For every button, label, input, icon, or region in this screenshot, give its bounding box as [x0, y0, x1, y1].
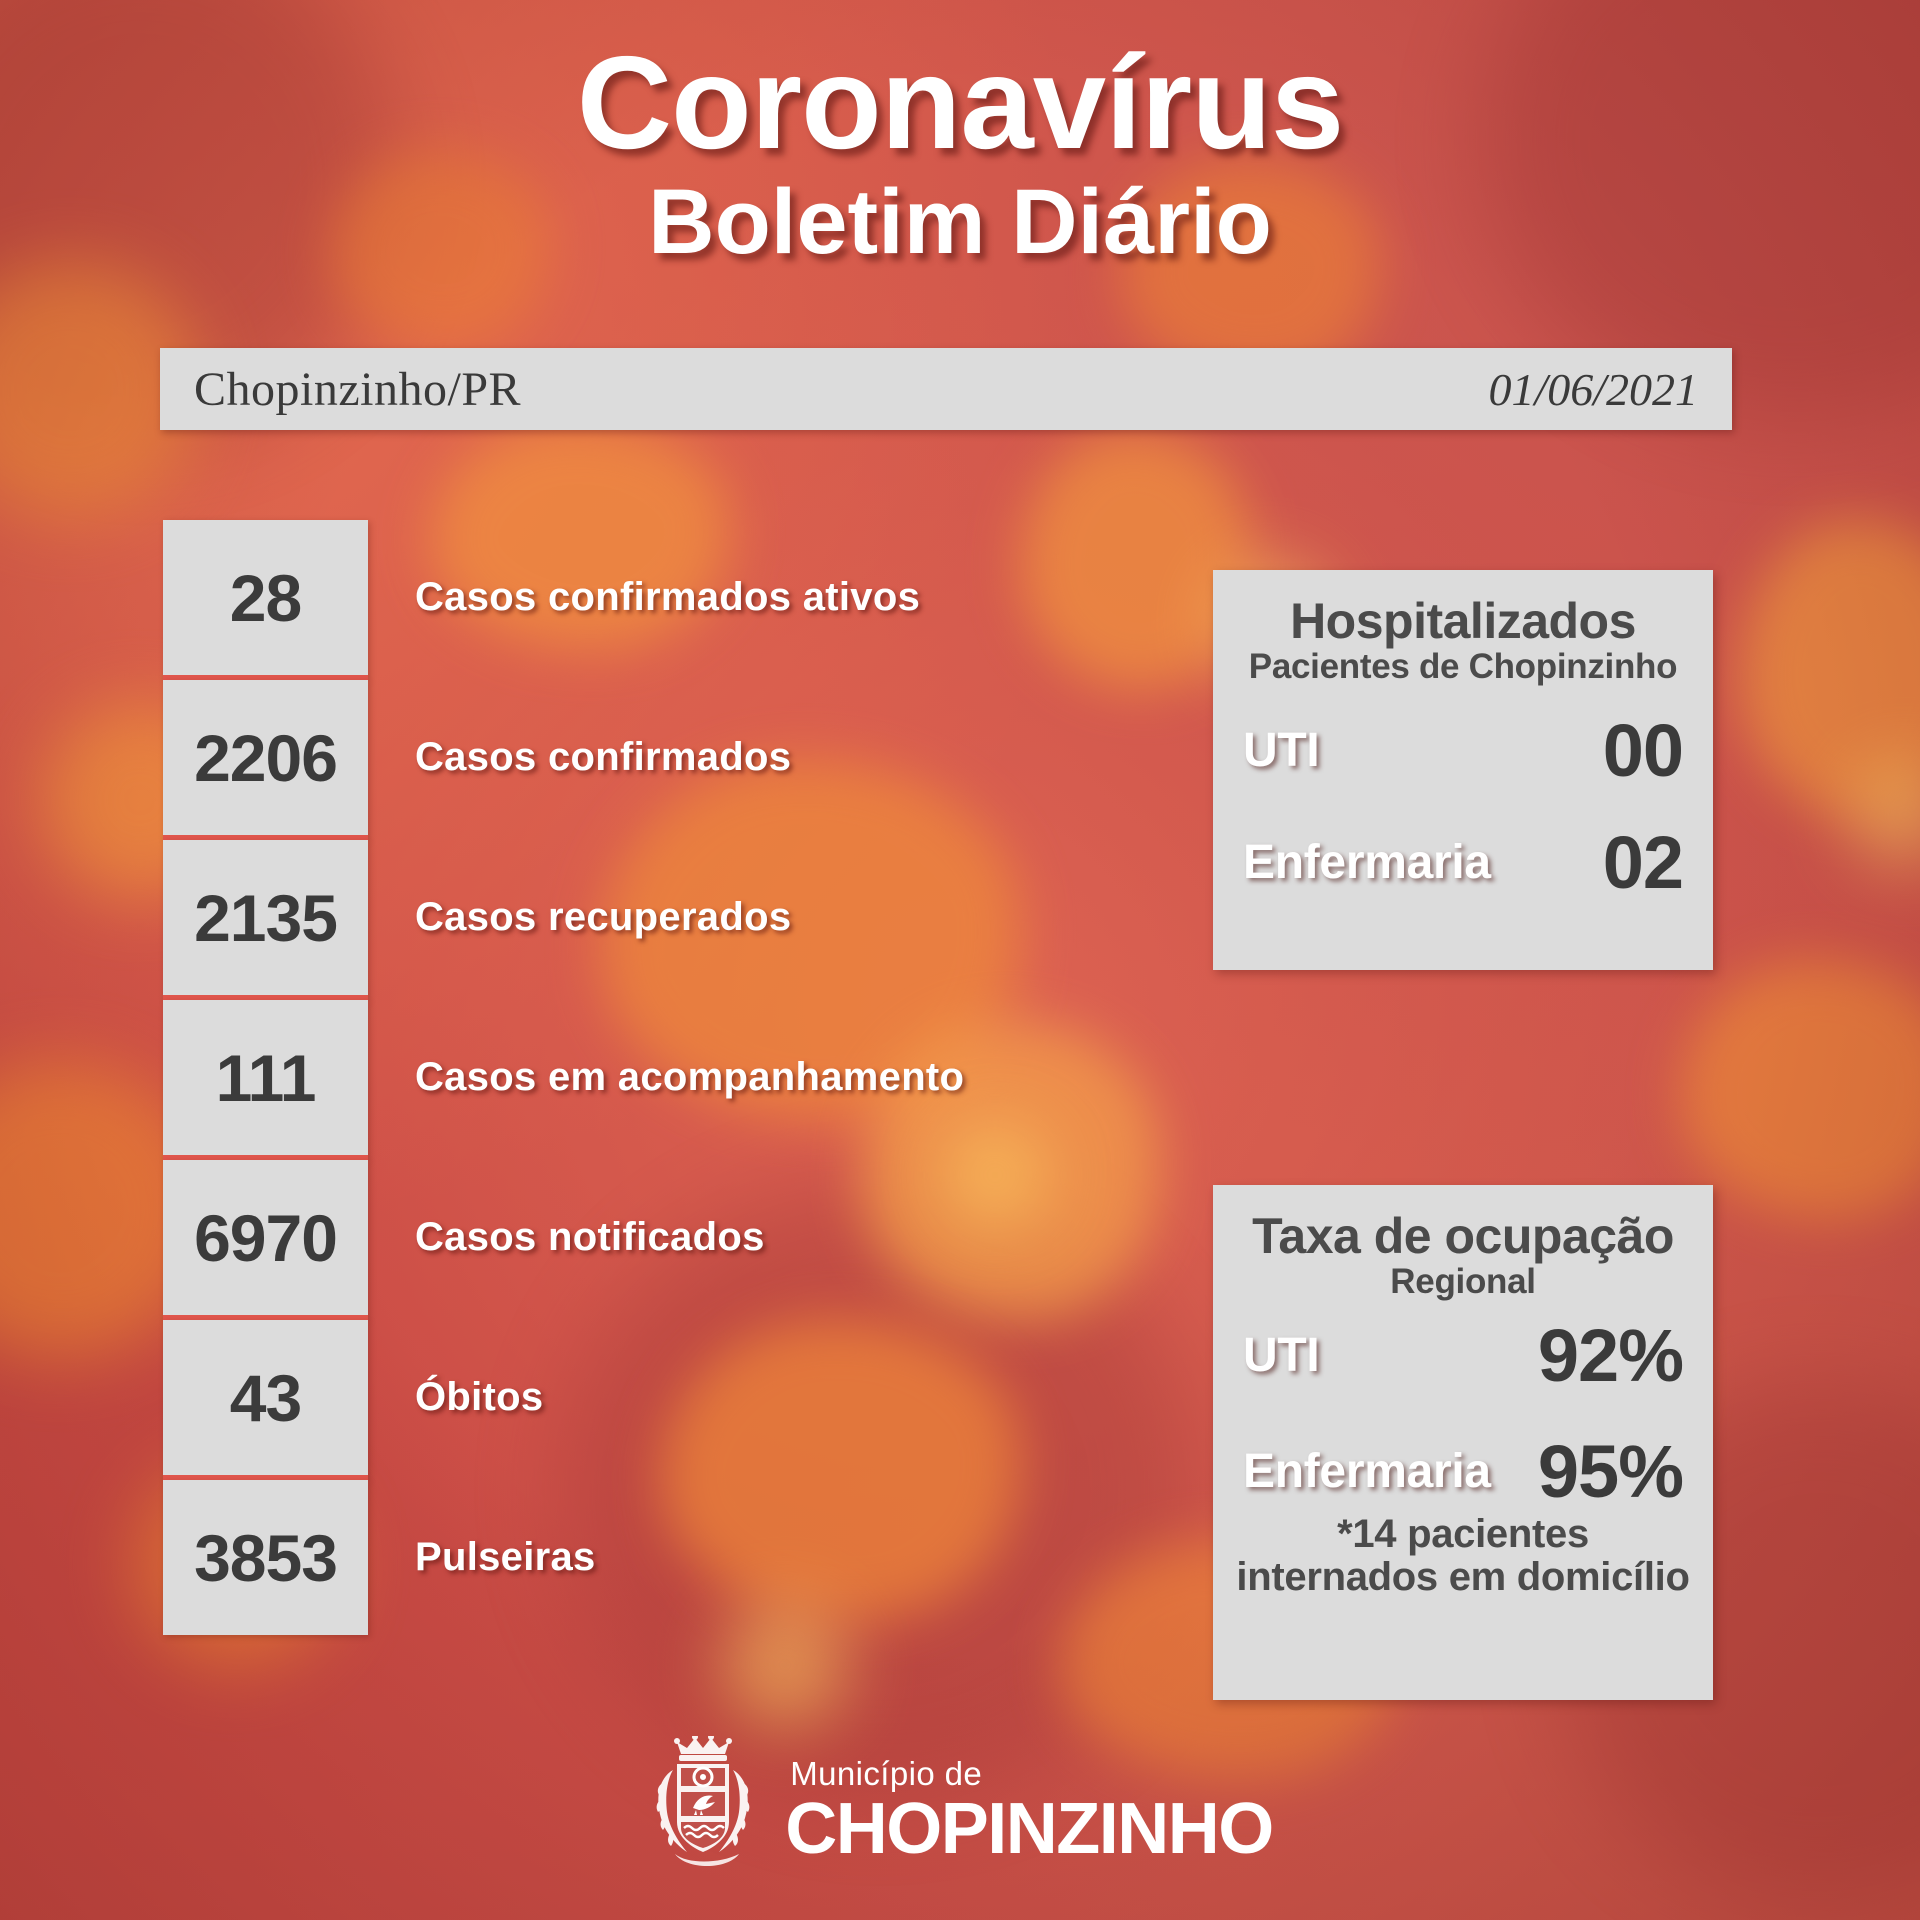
hospitalized-icu-label: UTI — [1243, 723, 1319, 778]
brand-name: CHOPINZINHO — [785, 1793, 1273, 1865]
stat-row: 6970 Casos notificados — [163, 1160, 368, 1320]
stat-value: 2206 — [194, 725, 337, 791]
stat-row: 3853 Pulseiras — [163, 1480, 368, 1635]
stat-row: 43 Óbitos — [163, 1320, 368, 1480]
footer-logo: Município de CHOPINZINHO — [0, 1736, 1920, 1886]
stat-label: Casos recuperados — [415, 895, 791, 940]
occupancy-ward-value: 95% — [1538, 1435, 1683, 1509]
stat-row: 28 Casos confirmados ativos — [163, 520, 368, 680]
city-label: Chopinzinho/PR — [194, 362, 521, 417]
covid-daily-bulletin-poster: Coronavírus Boletim Diário Chopinzinho/P… — [0, 0, 1920, 1920]
hospitalized-title: Hospitalizados — [1235, 596, 1691, 647]
occupancy-icu-row: UTI 92% — [1235, 1319, 1691, 1393]
stat-label: Casos em acompanhamento — [415, 1055, 964, 1100]
date-label: 01/06/2021 — [1488, 363, 1698, 416]
stat-value: 2135 — [194, 885, 337, 951]
occupancy-icu-label: UTI — [1243, 1328, 1319, 1383]
occupancy-footnote: *14 pacientes internados em domicílio — [1235, 1513, 1691, 1599]
hospitalized-ward-value: 02 — [1603, 826, 1683, 900]
stat-row: 111 Casos em acompanhamento — [163, 1000, 368, 1160]
stat-row: 2135 Casos recuperados — [163, 840, 368, 1000]
location-date-bar: Chopinzinho/PR 01/06/2021 — [160, 348, 1732, 430]
poster-header: Coronavírus Boletim Diário — [0, 34, 1920, 273]
stat-label: Casos notificados — [415, 1215, 765, 1260]
stat-value: 111 — [216, 1045, 316, 1111]
stat-label: Casos confirmados — [415, 735, 791, 780]
stat-label: Pulseiras — [415, 1535, 596, 1580]
statistics-list: 28 Casos confirmados ativos 2206 Casos c… — [163, 520, 368, 1635]
occupancy-ward-row: Enfermaria 95% — [1235, 1435, 1691, 1509]
stat-row: 2206 Casos confirmados — [163, 680, 368, 840]
hospitalized-panel: Hospitalizados Pacientes de Chopinzinho … — [1213, 570, 1713, 970]
hospitalized-ward-row: Enfermaria 02 — [1235, 826, 1691, 900]
page-title: Coronavírus — [0, 34, 1920, 171]
brand-prefix: Município de — [790, 1757, 1273, 1790]
occupancy-icu-value: 92% — [1538, 1319, 1683, 1393]
stat-value: 6970 — [194, 1205, 337, 1271]
hospitalized-icu-value: 00 — [1603, 714, 1683, 788]
occupancy-title: Taxa de ocupação — [1235, 1211, 1691, 1262]
brand-text: Município de CHOPINZINHO — [785, 1757, 1273, 1865]
hospitalized-ward-label: Enfermaria — [1243, 835, 1491, 890]
hospitalized-icu-row: UTI 00 — [1235, 714, 1691, 788]
stat-value: 3853 — [194, 1525, 337, 1591]
page-subtitle: Boletim Diário — [0, 173, 1920, 272]
stat-label: Casos confirmados ativos — [415, 575, 920, 620]
stat-label: Óbitos — [415, 1375, 543, 1420]
occupancy-rate-panel: Taxa de ocupação Regional UTI 92% Enferm… — [1213, 1185, 1713, 1700]
stat-value: 28 — [230, 565, 301, 631]
occupancy-subtitle: Regional — [1235, 1264, 1691, 1301]
occupancy-ward-label: Enfermaria — [1243, 1444, 1491, 1499]
hospitalized-subtitle: Pacientes de Chopinzinho — [1235, 649, 1691, 686]
coat-of-arms-icon — [647, 1736, 767, 1886]
stat-value: 43 — [230, 1365, 301, 1431]
